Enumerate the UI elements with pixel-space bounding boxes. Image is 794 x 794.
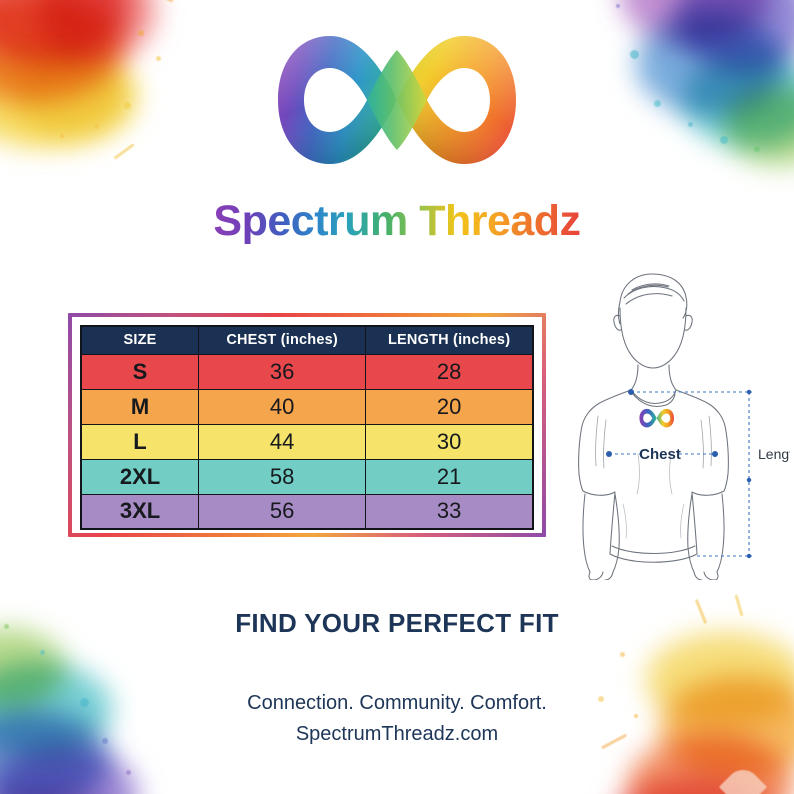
- table-row: M 40 20: [81, 389, 533, 424]
- size-chart-table: SIZE CHEST (inches) LENGTH (inches) S 36…: [80, 325, 534, 530]
- brand-title-text: Spectrum Threadz: [213, 197, 580, 245]
- length-measure-label: Length: [758, 446, 790, 462]
- tagline-line-1: Connection. Community. Comfort.: [0, 688, 794, 719]
- size-chart-frame: SIZE CHEST (inches) LENGTH (inches) S 36…: [68, 313, 546, 537]
- cell-length: 28: [366, 354, 533, 389]
- cell-size: S: [81, 354, 199, 389]
- shirt-figure-illustration: Chest Length: [576, 268, 790, 580]
- tagline-website: SpectrumThreadz.com: [0, 719, 794, 750]
- tagline-headline: FIND YOUR PERFECT FIT: [0, 608, 794, 639]
- table-row: L 44 30: [81, 424, 533, 459]
- cell-chest: 44: [199, 424, 366, 459]
- brand-title: Spectrum Threadz: [0, 200, 794, 243]
- table-row: S 36 28: [81, 354, 533, 389]
- cell-chest: 36: [199, 354, 366, 389]
- cell-size: 3XL: [81, 494, 199, 529]
- rainbow-infinity-icon: [268, 16, 526, 184]
- cell-size: 2XL: [81, 459, 199, 494]
- cell-length: 33: [366, 494, 533, 529]
- column-header-length: LENGTH (inches): [366, 326, 533, 354]
- column-header-chest: CHEST (inches): [199, 326, 366, 354]
- cell-chest: 40: [199, 389, 366, 424]
- table-row: 2XL 58 21: [81, 459, 533, 494]
- shirt-chest-infinity-icon: [639, 409, 674, 428]
- cell-size: L: [81, 424, 199, 459]
- brand-logo: [0, 16, 794, 184]
- shirt-measurement-diagram: Chest Length: [576, 268, 790, 580]
- cell-length: 20: [366, 389, 533, 424]
- column-header-size: SIZE: [81, 326, 199, 354]
- size-chart-poster: Spectrum Threadz SIZE CHEST (inches) LEN…: [0, 0, 794, 794]
- cell-length: 30: [366, 424, 533, 459]
- cell-chest: 58: [199, 459, 366, 494]
- tagline-subtext: Connection. Community. Comfort. Spectrum…: [0, 688, 794, 750]
- cell-length: 21: [366, 459, 533, 494]
- measurement-endpoints: [606, 389, 751, 558]
- table-header-row: SIZE CHEST (inches) LENGTH (inches): [81, 326, 533, 354]
- table-row: 3XL 56 33: [81, 494, 533, 529]
- chest-measure-label: Chest: [639, 446, 681, 463]
- cell-size: M: [81, 389, 199, 424]
- cell-chest: 56: [199, 494, 366, 529]
